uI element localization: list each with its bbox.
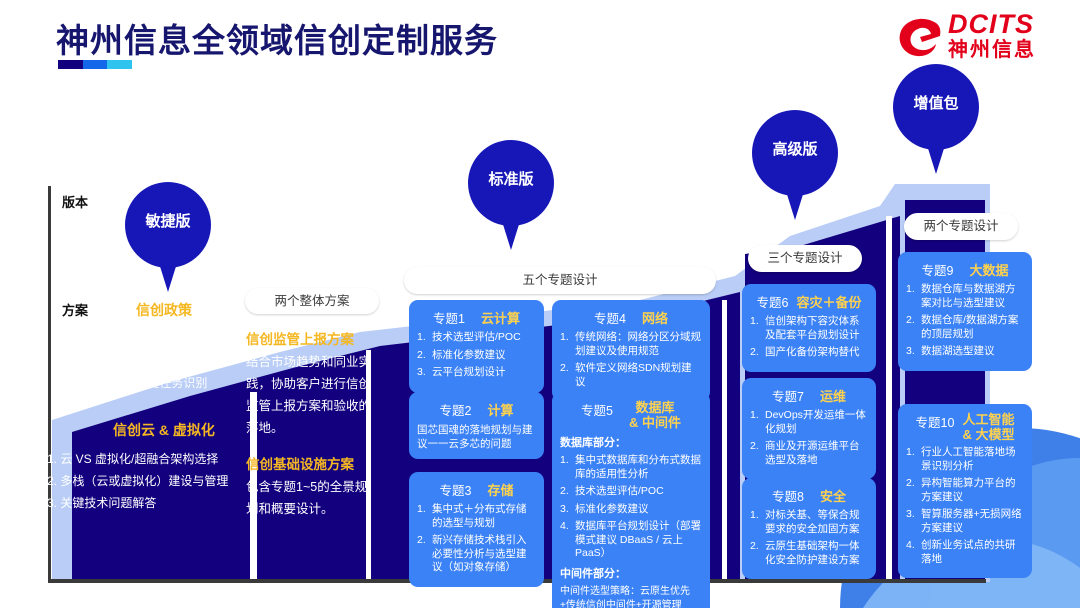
- accent-seg-3: [107, 60, 132, 69]
- card-header: 专题8 安全: [750, 486, 868, 505]
- card-header: 专题9 大数据: [906, 260, 1024, 279]
- list-item: 1.行业人工智能落地场景识别分析: [906, 446, 1024, 473]
- item-number: 2.: [906, 477, 921, 504]
- item-number: 3.: [906, 345, 921, 359]
- sub-heading: 中间件部分：: [560, 565, 702, 581]
- topic-number: 专题8: [772, 486, 804, 505]
- list-item: 1.信创架构下容灾体系及配套平台规划设计: [750, 315, 868, 342]
- topic-tag: 容灾＋备份: [796, 295, 861, 310]
- topic-card-1[interactable]: 专题1 云计算 1.技术选型评估/POC 2.标准化参数建议 3.云平台规划设计: [409, 300, 544, 393]
- item-text: 传统网络：网络分区分域规划建议及使用规范: [575, 331, 702, 358]
- page-title: 神州信息全领域信创定制服务: [56, 14, 498, 62]
- topic-number: 专题1: [433, 308, 465, 327]
- list-item: 2.新兴存储技术栈引入必要性分析与选型建议（如对象存储）: [417, 534, 536, 575]
- list-item: 3.云平台规划设计: [417, 366, 536, 380]
- item-text: 国产化备份架构替代: [765, 346, 868, 360]
- item-text: 智算服务器+无损网络方案建议: [921, 508, 1024, 535]
- pin-label: 标准版: [468, 168, 554, 189]
- topic-number: 专题6: [757, 292, 789, 311]
- section-heading: 信创云 & 虚拟化: [80, 420, 248, 440]
- list-item: 1.对标关基、等保合规要求的安全加固方案: [750, 509, 868, 536]
- list-item: 2.技术选型评估/POC: [560, 485, 702, 499]
- list-item: 2.数据仓库/数据湖方案的顶层规划: [906, 314, 1024, 341]
- axis-label-version: 版本: [62, 192, 88, 211]
- topic-card-2[interactable]: 专题2 计算 国芯国魂的落地规划与建议一一云多芯的问题: [409, 392, 544, 459]
- block-text: 包含专题1~5的全景规划和概要设计。: [246, 476, 376, 520]
- logo-brand: DCITS: [948, 10, 1036, 38]
- item-text: 云平台规划设计: [432, 366, 536, 380]
- card-header: 专题1 云计算: [417, 308, 536, 327]
- list-item: 3.智算服务器+无损网络方案建议: [906, 508, 1024, 535]
- item-text: 商业及开源运维平台选型及落地: [765, 440, 868, 467]
- card-header: 专题4 网络: [560, 308, 702, 327]
- list-item: 2.国产化备份架构替代: [750, 346, 868, 360]
- item-text: 软件定义网络SDN规划建议: [575, 362, 702, 389]
- topic-card-9[interactable]: 专题9 大数据 1.数据仓库与数据湖方案对比与选型建议 2.数据仓库/数据湖方案…: [898, 252, 1032, 371]
- item-text: 标准化参数建议: [575, 503, 702, 517]
- topic-tag: 存储: [487, 483, 513, 498]
- card-header: 专题3 存储: [417, 480, 536, 499]
- card-header: 专题6 容灾＋备份: [750, 292, 868, 311]
- block-heading: 信创基础设施方案: [246, 453, 376, 473]
- pin-agile[interactable]: 敏捷版: [125, 182, 211, 294]
- list-item: 2. 多栈（云或虚拟化）建设与管理: [47, 470, 252, 492]
- list-item: 1.传统网络：网络分区分域规划建议及使用规范: [560, 331, 702, 358]
- sub-heading: 数据库部分：: [560, 434, 702, 450]
- item-text: 数据仓库/数据湖方案的顶层规划: [921, 314, 1024, 341]
- list-item: 3.标准化参数建议: [560, 503, 702, 517]
- topic-tag: 计算: [487, 403, 513, 418]
- pill-five-topics[interactable]: 五个专题设计: [404, 267, 716, 294]
- logo: DCITS 神州信息: [896, 8, 1064, 70]
- list-item: 4.数据库平台规划设计（部署模式建议 DBaaS / 云上PaaS）: [560, 520, 702, 561]
- list-item: 3.数据湖选型建议: [906, 345, 1024, 359]
- logo-brand-cn: 神州信息: [948, 38, 1036, 62]
- item-text: 数据仓库与数据湖方案对比与选型建议: [921, 283, 1024, 310]
- pin-standard[interactable]: 标准版: [468, 140, 554, 252]
- item-number: 1.: [560, 454, 575, 481]
- pin-valueadd[interactable]: 增值包: [893, 64, 979, 176]
- logo-text: DCITS 神州信息: [948, 10, 1036, 62]
- item-text: 技术选型评估/POC: [432, 331, 536, 345]
- list-item: 1.集中式＋分布式存储的选型与规划: [417, 503, 536, 530]
- card-header: 专题7 运维: [750, 386, 868, 405]
- accent-seg-2: [83, 60, 108, 69]
- item-text: 异构智能算力平台的方案建议: [921, 477, 1024, 504]
- list-item: 4.创新业务试点的共研落地: [906, 539, 1024, 566]
- topic-card-8[interactable]: 专题8 安全 1.对标关基、等保合规要求的安全加固方案 2.云原生基础架构一体化…: [742, 478, 876, 579]
- pill-two-overall-plans[interactable]: 两个整体方案: [245, 288, 379, 314]
- item-text: 标准化参数建议: [432, 349, 536, 363]
- item-text: 集中式数据库和分布式数据库的适用性分析: [575, 454, 702, 481]
- topic-card-7[interactable]: 专题7 运维 1.DevOps开发运维一体化规划 2.商业及开源运维平台选型及落…: [742, 378, 876, 479]
- list-item: 1. 云 VS 虚拟化/超融合架构选择: [47, 448, 252, 470]
- pin-label: 敏捷版: [125, 210, 211, 231]
- item-number: 2.: [906, 314, 921, 341]
- card-header: 专题10 人工智能 & 大模型: [906, 412, 1024, 442]
- item-text: 信创架构下容灾体系及配套平台规划设计: [765, 315, 868, 342]
- item-text: 对标关基、等保合规要求的安全加固方案: [765, 509, 868, 536]
- item-number: 1.: [750, 315, 765, 342]
- block-text: 结合市场趋势和同业实践，协助客户进行信创监管上报方案和验收的落地。: [246, 351, 376, 439]
- topic-tag: 大数据: [969, 263, 1008, 278]
- list-item: 1.DevOps开发运维一体化规划: [750, 409, 868, 436]
- pin-label: 高级版: [752, 138, 838, 159]
- topic-card-3[interactable]: 专题3 存储 1.集中式＋分布式存储的选型与规划 2.新兴存储技术栈引入必要性分…: [409, 472, 544, 587]
- list-item: 1.集中式数据库和分布式数据库的适用性分析: [560, 454, 702, 481]
- item-text: 数据库平台规划设计（部署模式建议 DBaaS / 云上PaaS）: [575, 520, 702, 561]
- item-number: 3.: [560, 503, 575, 517]
- slide-canvas: 神州信息全领域信创定制服务 DCITS 神州信息 版本 方案 敏捷版 标准版 高…: [0, 0, 1080, 608]
- list-item: 2.云原生基础架构一体化安全防护建设方案: [750, 540, 868, 567]
- list-item: 1.数据仓库与数据湖方案对比与选型建议: [906, 283, 1024, 310]
- list-item: 1. 政策解读: [98, 328, 248, 350]
- topic-tag: 网络: [642, 311, 668, 326]
- pin-label: 增值包: [893, 92, 979, 113]
- topic-card-6[interactable]: 专题6 容灾＋备份 1.信创架构下容灾体系及配套平台规划设计 2.国产化备份架构…: [742, 284, 876, 372]
- item-number: 2.: [417, 534, 432, 575]
- topic-number: 专题4: [594, 308, 626, 327]
- title-accent-bar: [58, 60, 132, 69]
- topic-number: 专题7: [772, 386, 804, 405]
- item-number: 1.: [417, 331, 432, 345]
- section-heading: 信创政策: [80, 300, 248, 320]
- card-header: 专题2 计算: [417, 400, 536, 419]
- item-number: 4.: [906, 539, 921, 566]
- item-text: 新兴存储技术栈引入必要性分析与选型建议（如对象存储）: [432, 534, 536, 575]
- item-number: 3.: [906, 508, 921, 535]
- item-text: 数据湖选型建议: [921, 345, 1024, 359]
- item-text: 创新业务试点的共研落地: [921, 539, 1024, 566]
- pill-three-topics[interactable]: 三个专题设计: [748, 245, 862, 272]
- column-agile: 信创政策 1. 政策解读 2. 同业分享 3. 信创关键任务识别 信创云 & 虚…: [80, 300, 248, 514]
- list-item: 2.软件定义网络SDN规划建议: [560, 362, 702, 389]
- item-number: 4.: [560, 520, 575, 561]
- topic-number: 专题10: [916, 412, 955, 431]
- topic-number: 专题9: [922, 260, 954, 279]
- item-text: DevOps开发运维一体化规划: [765, 409, 868, 436]
- item-number: 2.: [750, 346, 765, 360]
- item-text: 集中式＋分布式存储的选型与规划: [432, 503, 536, 530]
- list-item: 2.商业及开源运维平台选型及落地: [750, 440, 868, 467]
- topic-number: 专题2: [440, 400, 472, 419]
- item-number: 1.: [750, 409, 765, 436]
- pill-two-topics[interactable]: 两个专题设计: [904, 213, 1018, 240]
- topic-card-5[interactable]: 专题5 数据库 & 中间件 数据库部分： 1.集中式数据库和分布式数据库的适用性…: [552, 392, 710, 608]
- item-number: 1.: [560, 331, 575, 358]
- topic-card-4[interactable]: 专题4 网络 1.传统网络：网络分区分域规划建议及使用规范 2.软件定义网络SD…: [552, 300, 710, 401]
- topic-card-10[interactable]: 专题10 人工智能 & 大模型 1.行业人工智能落地场景识别分析 2.异构智能算…: [898, 404, 1032, 578]
- topic-text: 国芯国魂的落地规划与建议一一云多芯的问题: [417, 423, 536, 451]
- item-number: 1.: [417, 503, 432, 530]
- list-item: 2.异构智能算力平台的方案建议: [906, 477, 1024, 504]
- topic-tag: 人工智能 & 大模型: [962, 412, 1014, 442]
- item-text: 技术选型评估/POC: [575, 485, 702, 499]
- topic-tag: 云计算: [481, 311, 520, 326]
- card-header: 专题5 数据库 & 中间件: [560, 400, 702, 430]
- topic-number: 专题5: [581, 400, 613, 419]
- list-item: 2.标准化参数建议: [417, 349, 536, 363]
- item-number: 1.: [750, 509, 765, 536]
- e-swoosh-icon: [896, 14, 944, 62]
- column-standard-overall: 两个整体方案 信创监管上报方案 结合市场趋势和同业实践，协助客户进行信创监管上报…: [262, 288, 362, 520]
- item-number: 2.: [560, 362, 575, 389]
- item-text: 行业人工智能落地场景识别分析: [921, 446, 1024, 473]
- topic-number: 专题3: [440, 480, 472, 499]
- item-text: 云原生基础架构一体化安全防护建设方案: [765, 540, 868, 567]
- item-number: 2.: [417, 349, 432, 363]
- list-item: 2. 同业分享: [98, 350, 248, 372]
- list-item: 3. 关键技术问题解答: [47, 492, 252, 514]
- topic-tag: 安全: [820, 489, 846, 504]
- axis-vertical: [48, 186, 51, 582]
- item-number: 1.: [906, 446, 921, 473]
- accent-seg-1: [58, 60, 83, 69]
- item-number: 2.: [750, 440, 765, 467]
- topic-tail-text: 中间件选型策略：云原生优先+传统信创中间件+开源管理: [560, 585, 702, 608]
- item-number: 2.: [750, 540, 765, 567]
- item-number: 2.: [560, 485, 575, 499]
- list-item: 1.技术选型评估/POC: [417, 331, 536, 345]
- topic-tag: 数据库 & 中间件: [629, 400, 681, 430]
- item-number: 1.: [906, 283, 921, 310]
- item-number: 3.: [417, 366, 432, 380]
- list-item: 3. 信创关键任务识别: [98, 372, 248, 394]
- block-heading: 信创监管上报方案: [246, 328, 376, 348]
- pin-advanced[interactable]: 高级版: [752, 110, 838, 222]
- topic-tag: 运维: [820, 389, 846, 404]
